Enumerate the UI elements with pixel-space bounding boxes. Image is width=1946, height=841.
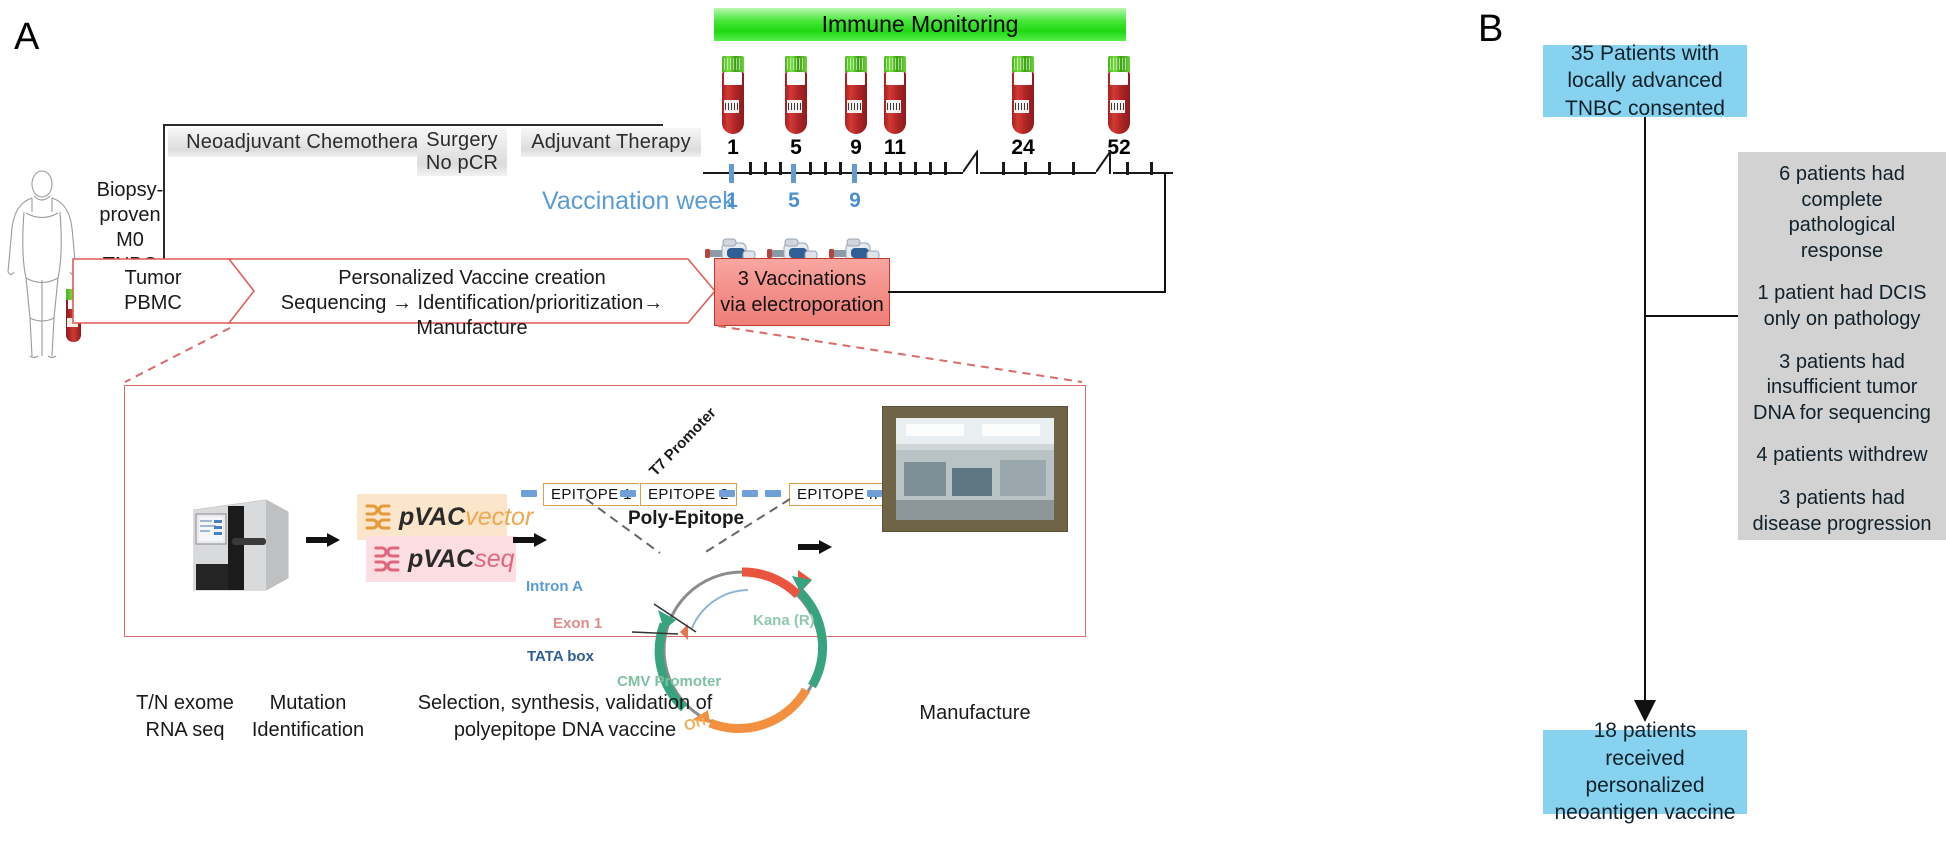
flow-arrow-icon bbox=[513, 533, 547, 552]
sequencer-icon bbox=[166, 494, 292, 594]
timeline-tick bbox=[749, 162, 752, 175]
tube-body-icon bbox=[1012, 72, 1034, 134]
timeline-break-1 bbox=[963, 150, 991, 179]
tube-body-icon bbox=[845, 72, 867, 134]
vaccination-week-label-9: 9 bbox=[849, 189, 861, 213]
consort-vertical-line-bottom bbox=[1644, 317, 1646, 704]
timeline-tick bbox=[809, 162, 812, 175]
vaccination-box: 3 Vaccinations via electroporation bbox=[714, 258, 890, 326]
vaccination-tick-week-1 bbox=[729, 164, 734, 183]
flow-creation-label: Personalized Vaccine creation Sequencing… bbox=[252, 266, 692, 341]
pvac-seq-italic: seq bbox=[474, 545, 514, 574]
tata-box-label: TATA box bbox=[527, 648, 594, 665]
pvac-vector-italic: vector bbox=[465, 503, 533, 532]
consort-vertical-line-top bbox=[1644, 117, 1646, 315]
tube-cap-icon bbox=[1108, 56, 1130, 72]
tube-week-label: 24 bbox=[1011, 136, 1034, 160]
poly-epitope-label: Poly-Epitope bbox=[628, 508, 744, 530]
flow-creation-line-1: Personalized Vaccine creation bbox=[252, 266, 692, 291]
timeline-tick bbox=[1072, 162, 1075, 175]
pvac-seq-badge: pVAC seq bbox=[366, 536, 516, 582]
vaccination-week-label-5: 5 bbox=[788, 189, 800, 213]
exclusion-item-2: 1 patient had DCIS only on pathology bbox=[1746, 281, 1938, 332]
dna-segment bbox=[867, 490, 883, 497]
tube-week-label: 9 bbox=[850, 136, 862, 160]
timeline-tick bbox=[929, 162, 932, 175]
flow-collection-line-2: PBMC bbox=[78, 291, 228, 316]
timeline-tick bbox=[899, 162, 902, 175]
tube-cap-icon bbox=[785, 56, 807, 72]
blood-tube-week-1: 1 bbox=[722, 56, 744, 134]
dna-segment bbox=[765, 490, 781, 497]
caption-exome-line-1: T/N exome bbox=[130, 690, 240, 717]
tube-body-icon bbox=[722, 72, 744, 134]
pvac-vector-badge: pVAC vector bbox=[357, 494, 507, 540]
exclusion-item-4: 4 patients withdrew bbox=[1746, 443, 1938, 469]
timeline-tick bbox=[779, 162, 782, 175]
immune-monitoring-banner: Immune Monitoring bbox=[714, 8, 1126, 41]
dna-segment bbox=[620, 490, 636, 497]
timeline-tick bbox=[764, 162, 767, 175]
flow-collection-label: Tumor PBMC bbox=[78, 266, 228, 316]
pvac-vector-bold: pVAC bbox=[399, 503, 465, 532]
flow-arrow-icon bbox=[798, 540, 832, 559]
plasmid-map bbox=[592, 540, 892, 630]
tube-cap-icon bbox=[845, 56, 867, 72]
vaccination-week-axis-label: Vaccination week bbox=[542, 187, 735, 216]
cmv-promoter-label: CMV Promoter bbox=[617, 673, 721, 690]
pvac-seq-bold: pVAC bbox=[408, 545, 474, 574]
tube-body-icon bbox=[884, 72, 906, 134]
vaccination-box-line-1: 3 Vaccinations bbox=[738, 266, 867, 292]
tube-cap-icon bbox=[722, 56, 744, 72]
blood-tube-week-9: 9 bbox=[845, 56, 867, 134]
caption-exome-line-2: RNA seq bbox=[130, 717, 240, 744]
biopsy-label-line-1: Biopsy- bbox=[88, 178, 172, 203]
exclusion-item-5: 3 patients had disease progression bbox=[1746, 486, 1938, 537]
therapy-bar-adjuvant: Adjuvant Therapy bbox=[521, 128, 701, 157]
timeline-tick bbox=[944, 162, 947, 175]
timeline-tick bbox=[1024, 162, 1027, 175]
tube-week-label: 5 bbox=[790, 136, 802, 160]
timeline-axis-segment-1 bbox=[703, 172, 963, 174]
manufacture-facility-photo bbox=[882, 406, 1068, 532]
flow-creation-line-2: Sequencing → Identification/prioritizati… bbox=[252, 291, 692, 341]
flow-arrow-icon bbox=[306, 533, 340, 552]
flow-collection-line-1: Tumor bbox=[78, 266, 228, 291]
tube-week-label: 1 bbox=[727, 136, 739, 160]
timeline-break-2 bbox=[1096, 150, 1124, 179]
exclusion-item-3: 3 patients had insufficient tumor DNA fo… bbox=[1746, 350, 1938, 427]
blood-tube-week-5: 5 bbox=[785, 56, 807, 134]
timeline-tick bbox=[1150, 162, 1153, 175]
surgery-label-line-2: No pCR bbox=[426, 152, 498, 175]
caption-selection: Selection, synthesis, validation of poly… bbox=[400, 690, 730, 744]
tube-cap-icon bbox=[1012, 56, 1034, 72]
feedback-loop-vertical bbox=[1164, 172, 1166, 293]
timeline-tick bbox=[914, 162, 917, 175]
clover-icon bbox=[370, 544, 404, 574]
clover-icon bbox=[361, 502, 395, 532]
timeline-tick bbox=[839, 162, 842, 175]
tube-body-icon bbox=[785, 72, 807, 134]
vaccination-tick-week-9 bbox=[852, 164, 857, 183]
timeline-tick bbox=[824, 162, 827, 175]
exclusions-box: 6 patients had complete pathological res… bbox=[1738, 152, 1946, 540]
caption-mutation-line-1: Mutation bbox=[243, 690, 373, 717]
exon1-label: Exon 1 bbox=[553, 615, 602, 632]
blood-tube-week-24: 24 bbox=[1012, 56, 1034, 134]
caption-exome: T/N exome RNA seq bbox=[130, 690, 240, 744]
timeline-axis-segment-2 bbox=[980, 172, 1096, 174]
feedback-loop-horizontal bbox=[888, 291, 1166, 293]
blood-tube-week-52: 52 bbox=[1108, 56, 1130, 134]
intron-a-label: Intron A bbox=[526, 578, 583, 595]
exclusion-item-1: 6 patients had complete pathological res… bbox=[1746, 162, 1938, 264]
vaccination-box-line-2: via electroporation bbox=[720, 292, 883, 318]
vaccination-tick-week-5 bbox=[791, 164, 796, 183]
caption-selection-line-2: polyepitope DNA vaccine bbox=[400, 717, 730, 744]
timeline-tick bbox=[869, 162, 872, 175]
tube-body-icon bbox=[1108, 72, 1130, 134]
vaccination-week-label-1: 1 bbox=[726, 189, 738, 213]
therapy-bar-surgery: Surgery No pCR bbox=[417, 128, 507, 176]
timeline-tick bbox=[884, 162, 887, 175]
panel-b-letter: B bbox=[1478, 8, 1503, 51]
timeline-tick bbox=[1126, 162, 1129, 175]
timeline-tick bbox=[1002, 162, 1005, 175]
blood-tube-week-11: 11 bbox=[884, 56, 906, 134]
received-vaccine-box: 18 patients received personalized neoant… bbox=[1543, 730, 1747, 814]
dna-segment bbox=[719, 490, 735, 497]
panel-a-letter: A bbox=[14, 16, 39, 59]
caption-selection-line-1: Selection, synthesis, validation of bbox=[400, 690, 730, 717]
caption-mutation-line-2: Identification bbox=[243, 717, 373, 744]
dna-segment bbox=[521, 490, 537, 497]
surgery-label-line-1: Surgery bbox=[426, 129, 497, 152]
biopsy-label-line-2: proven bbox=[88, 203, 172, 228]
dna-segment bbox=[742, 490, 758, 497]
timeline-bracket bbox=[163, 124, 663, 126]
caption-mutation: Mutation Identification bbox=[243, 690, 373, 744]
consented-box: 35 Patients with locally advanced TNBC c… bbox=[1543, 45, 1747, 117]
tube-cap-icon bbox=[884, 56, 906, 72]
kana-label: Kana (R) bbox=[753, 612, 815, 629]
tube-week-label: 11 bbox=[884, 136, 906, 160]
caption-manufacture: Manufacture bbox=[880, 700, 1070, 727]
therapy-bar-neoadjuvant: Neoadjuvant Chemotherapy bbox=[168, 128, 458, 157]
timeline-tick bbox=[1048, 162, 1051, 175]
